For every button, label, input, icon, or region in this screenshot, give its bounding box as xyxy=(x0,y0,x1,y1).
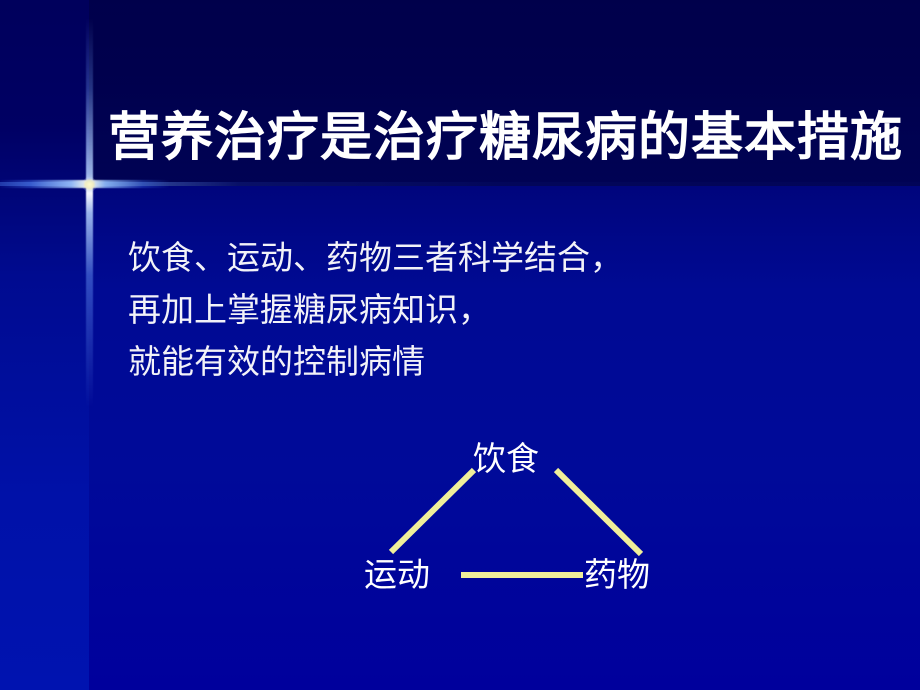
body-line-1: 饮食、运动、药物三者科学结合， xyxy=(128,232,848,284)
edge-diet-drug xyxy=(556,470,641,554)
diagram-node-exercise: 运动 xyxy=(364,548,430,596)
slide-body: 饮食、运动、药物三者科学结合， 再加上掌握糖尿病知识， 就能有效的控制病情 xyxy=(128,232,848,388)
diagram-node-diet: 饮食 xyxy=(473,432,539,480)
triangle-diagram: 饮食 运动 药物 xyxy=(350,415,690,615)
left-accent-band xyxy=(0,0,89,690)
sparkle-vertical-beam xyxy=(86,18,93,408)
body-line-3: 就能有效的控制病情 xyxy=(128,336,848,388)
slide-canvas: 营养治疗是治疗糖尿病的基本措施 饮食、运动、药物三者科学结合， 再加上掌握糖尿病… xyxy=(0,0,920,690)
edge-exercise-diet xyxy=(391,470,474,552)
slide-title: 营养治疗是治疗糖尿病的基本措施 xyxy=(108,110,898,166)
body-line-2: 再加上掌握糖尿病知识， xyxy=(128,284,848,336)
diagram-node-drug: 药物 xyxy=(584,548,650,596)
sparkle-star-icon xyxy=(82,177,97,192)
